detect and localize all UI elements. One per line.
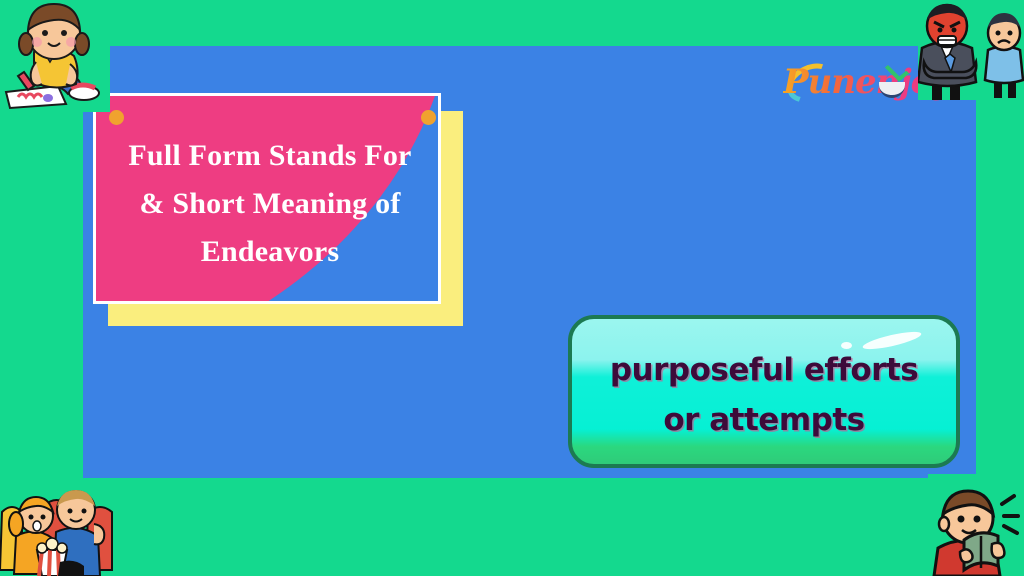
brand-logo[interactable]: Punenjoy!: [783, 62, 935, 114]
angry-boss-and-sad-employee-illustration: [918, 0, 1024, 100]
slide-canvas: Full Form Stands For & Short Meaning of …: [0, 0, 1024, 576]
meaning-answer-box: purposeful efforts or attempts: [568, 315, 960, 468]
pin-dot-left-icon: [109, 110, 124, 125]
pin-dot-right-icon: [421, 110, 436, 125]
title-card: Full Form Stands For & Short Meaning of …: [93, 93, 441, 304]
title-card-group: Full Form Stands For & Short Meaning of …: [93, 93, 463, 326]
meaning-text: purposeful efforts or attempts: [572, 345, 956, 445]
couple-watching-movie-illustration: [0, 478, 118, 576]
girl-drawing-illustration: [0, 0, 110, 112]
boy-reading-book-illustration: [928, 474, 1024, 576]
page-title: Full Form Stands For & Short Meaning of …: [96, 132, 441, 276]
